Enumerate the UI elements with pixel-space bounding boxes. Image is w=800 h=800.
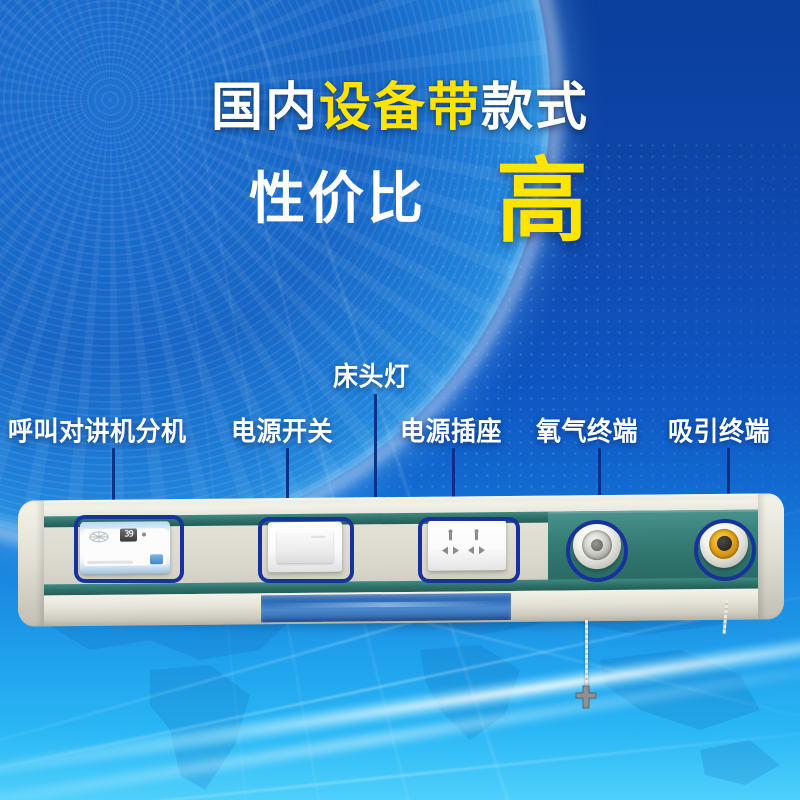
callout-oxygen: 氧气终端 bbox=[536, 412, 638, 448]
headline-line-2: 性价比 高 bbox=[0, 156, 800, 243]
headline-subtitle: 性价比 bbox=[249, 172, 426, 228]
product-banner: 国内设备带款式 性价比 高 呼叫对讲机分机 电源开关 床头灯 电源插座 氧气终端 bbox=[0, 0, 800, 800]
callout-suction: 吸引终端 bbox=[668, 412, 770, 448]
headline-part-1: 国内 bbox=[211, 78, 319, 138]
headline-part-3: 款式 bbox=[481, 78, 589, 138]
rocker-power-switch[interactable] bbox=[268, 522, 342, 573]
callout-label-suction: 吸引终端 bbox=[668, 411, 770, 449]
intercom-call-button[interactable] bbox=[150, 554, 163, 564]
switch-rocker[interactable] bbox=[277, 531, 333, 564]
headline-block: 国内设备带款式 性价比 高 bbox=[0, 82, 800, 243]
medical-equipment-panel: 39 bbox=[18, 497, 784, 627]
socket-pins-icon bbox=[428, 520, 506, 571]
nurse-call-intercom[interactable]: 39 bbox=[80, 521, 170, 574]
bedside-lamp-diffuser[interactable] bbox=[261, 593, 511, 622]
pull-cord-handle-icon[interactable] bbox=[574, 684, 598, 710]
intercom-display: 39 bbox=[120, 529, 137, 542]
oxygen-pull-cord[interactable] bbox=[585, 620, 588, 692]
callout-label-bedside-lamp: 床头灯 bbox=[333, 356, 410, 394]
callout-bedside-lamp: 床头灯 bbox=[333, 357, 410, 393]
callout-power-switch: 电源开关 bbox=[231, 412, 333, 448]
panel-end-cap-right bbox=[758, 493, 784, 619]
panel-body: 39 bbox=[18, 493, 784, 626]
intercom-led-indicator bbox=[142, 532, 146, 536]
callout-label-oxygen: 氧气终端 bbox=[536, 411, 638, 449]
headline-line-1: 国内设备带款式 bbox=[0, 82, 800, 134]
callout-label-power-socket: 电源插座 bbox=[400, 411, 502, 449]
callout-label-intercom: 呼叫对讲机分机 bbox=[8, 411, 187, 449]
oxygen-outlet-port[interactable] bbox=[582, 530, 612, 560]
callout-label-power-switch: 电源开关 bbox=[231, 411, 333, 449]
suction-outlet-port[interactable] bbox=[709, 529, 739, 559]
headline-part-2: 设备带 bbox=[319, 78, 481, 138]
callout-intercom: 呼叫对讲机分机 bbox=[8, 412, 187, 448]
headline-emphasis: 高 bbox=[496, 158, 591, 245]
intercom-slot bbox=[87, 561, 133, 564]
panel-end-cap-left bbox=[18, 500, 44, 626]
suction-terminal[interactable] bbox=[700, 520, 748, 568]
universal-power-socket[interactable] bbox=[428, 520, 506, 571]
speaker-grille-icon bbox=[88, 530, 110, 544]
callout-power-socket: 电源插座 bbox=[400, 412, 502, 448]
oxygen-terminal[interactable] bbox=[573, 521, 621, 569]
